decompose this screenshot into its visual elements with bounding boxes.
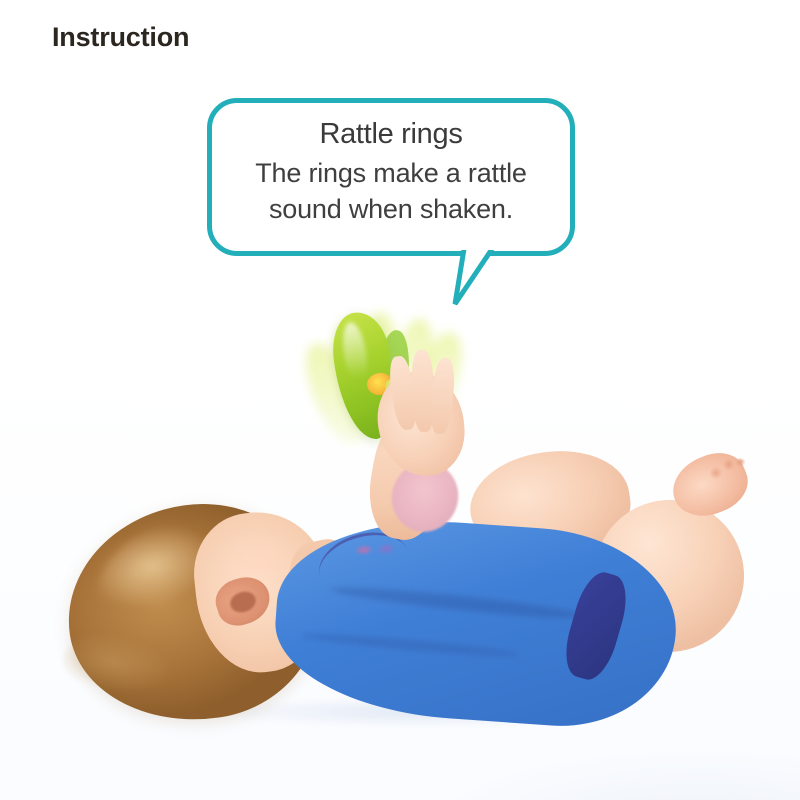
callout-heading: Rattle rings bbox=[212, 117, 570, 151]
instruction-callout: Rattle rings The rings make a rattle sou… bbox=[207, 98, 575, 256]
callout-tail-icon bbox=[430, 246, 520, 316]
callout-body-line-1: The rings make a rattle bbox=[255, 158, 527, 188]
instruction-card: Instruction Rattle rings The rings make … bbox=[0, 0, 800, 800]
callout-body: The rings make a rattle sound when shake… bbox=[226, 155, 556, 227]
callout-body-line-2: sound when shaken. bbox=[269, 194, 513, 224]
